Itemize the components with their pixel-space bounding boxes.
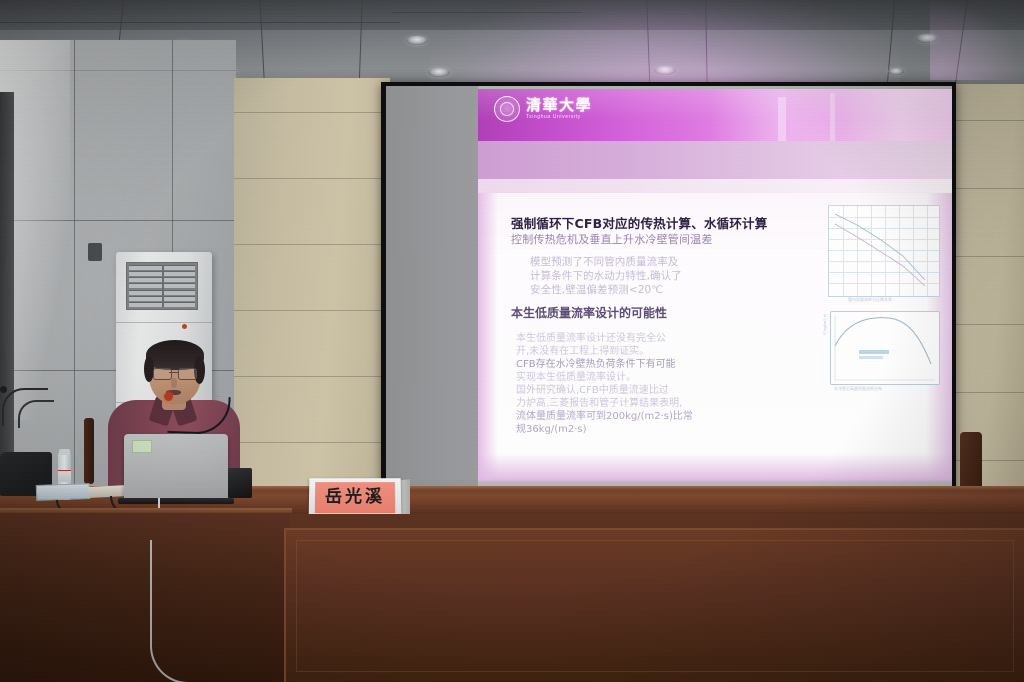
- glasses-bridge: [169, 372, 179, 373]
- equipment-box: [228, 468, 252, 498]
- slide-bullet: 安全性,壁温偏差预测<20℃: [530, 283, 663, 297]
- university-name-cn: 清華大學: [526, 98, 592, 113]
- desk-front-panel-left: [0, 510, 290, 682]
- cable-white-trailing: [150, 540, 188, 682]
- screen-unused-area: [386, 86, 478, 518]
- slide-subheader-band: [478, 141, 952, 179]
- chart-top-series: [829, 206, 939, 296]
- projection-screen-surface: 清華大學 Tsinghua University 强制循环下CFB对应的传热计算…: [386, 86, 952, 518]
- chair-back-left: [84, 418, 94, 484]
- water-bottle-cap: [59, 449, 70, 455]
- ceiling-upper-band: [0, 0, 1024, 30]
- laptop[interactable]: [124, 434, 228, 500]
- name-placard-plate: 岳光溪: [315, 482, 395, 513]
- slide-paragraph-line: 流体量质量流率可到200kg/(m2·s)比常: [516, 410, 693, 423]
- university-name-en: Tsinghua University: [526, 115, 592, 120]
- ceiling-downlight-icon: [654, 66, 676, 75]
- glasses-lens-left: [153, 368, 172, 380]
- ceiling-seam: [0, 22, 400, 23]
- slide-chart-bottom: [830, 311, 940, 385]
- projector-purple-glow-right: [930, 0, 1024, 80]
- slide-paragraph-line: 力炉高,三菱报告和管子计算结果表明,: [516, 397, 682, 410]
- slide-paragraph-line: 实现本生低质量流率设计。: [516, 371, 636, 384]
- speaker-name: 岳光溪: [325, 489, 385, 506]
- projector-reflection: [778, 97, 786, 141]
- speaker-nose: [171, 378, 177, 388]
- ac-vent-grille-icon: [126, 262, 198, 310]
- slide-edge-glow-bottom: [478, 453, 952, 481]
- slide-section-heading: 本生低质量流率设计的可能性: [511, 304, 667, 321]
- water-bottle-label: [58, 470, 71, 482]
- chart-bottom-caption: 水冷壁沿高度质量流率分布: [834, 386, 882, 392]
- ceiling-seam: [392, 12, 582, 13]
- tsinghua-seal-icon: [494, 96, 520, 122]
- chart-top-caption: 管内质量流率与压降关系: [848, 297, 892, 303]
- laptop-sticker: [132, 440, 152, 453]
- slide-paragraph-line: 国外研究确认,CFB中质量流速比过: [516, 384, 669, 397]
- desk-panel-inset: [296, 540, 1014, 672]
- ceiling-downlight-icon: [888, 68, 904, 75]
- slide-bullet: 模型预测了不同管内质量流率及: [530, 255, 678, 269]
- slide-paragraph-line: 开,未没有在工程上得到证实。: [516, 345, 649, 358]
- chart-bottom-ylabel: G kg/(m2·s): [822, 314, 827, 335]
- chart-bottom-series: [831, 312, 939, 384]
- conference-room-scene: 清華大學 Tsinghua University 强制循环下CFB对应的传热计算…: [0, 0, 1024, 682]
- projected-slide: 清華大學 Tsinghua University 强制循环下CFB对应的传热计算…: [478, 89, 952, 481]
- name-placard: 岳光溪: [309, 478, 402, 518]
- glasses-lens-right: [178, 368, 197, 380]
- slide-header-band: 清華大學 Tsinghua University: [478, 89, 952, 141]
- slide-bullet: 计算条件下的水动力特性,确认了: [530, 269, 682, 283]
- slide-title: 强制循环下CFB对应的传热计算、水循环计算: [511, 213, 811, 232]
- slide-subtitle: 控制传热危机及垂直上升水冷壁管间温差: [511, 231, 831, 247]
- microphone-head-icon: [164, 392, 173, 401]
- slide-edge-glow-left: [478, 193, 498, 481]
- projector-reflection: [830, 93, 835, 141]
- slide-paragraph-line: CFB存在水冷壁热负荷条件下有可能: [516, 358, 676, 371]
- slide-paragraph-line: 规36kg/(m2·s): [516, 423, 587, 436]
- desk-left-edge: [0, 508, 292, 513]
- microphone-head-left: [0, 386, 7, 393]
- slide-paragraph-line: 本生低质量流率设计还没有完全公: [516, 332, 666, 345]
- slide-band-gap: [478, 179, 952, 193]
- tsinghua-logo: 清華大學 Tsinghua University: [494, 96, 592, 122]
- ceiling-downlight-icon: [406, 36, 428, 45]
- papers-stack: [36, 483, 91, 501]
- ceiling-sensor: [88, 243, 102, 261]
- ceiling-downlight-icon: [428, 68, 450, 77]
- ac-indicator-light: [182, 324, 187, 329]
- slide-chart-top: [828, 205, 940, 297]
- microphone-boom-left-2: [18, 400, 54, 428]
